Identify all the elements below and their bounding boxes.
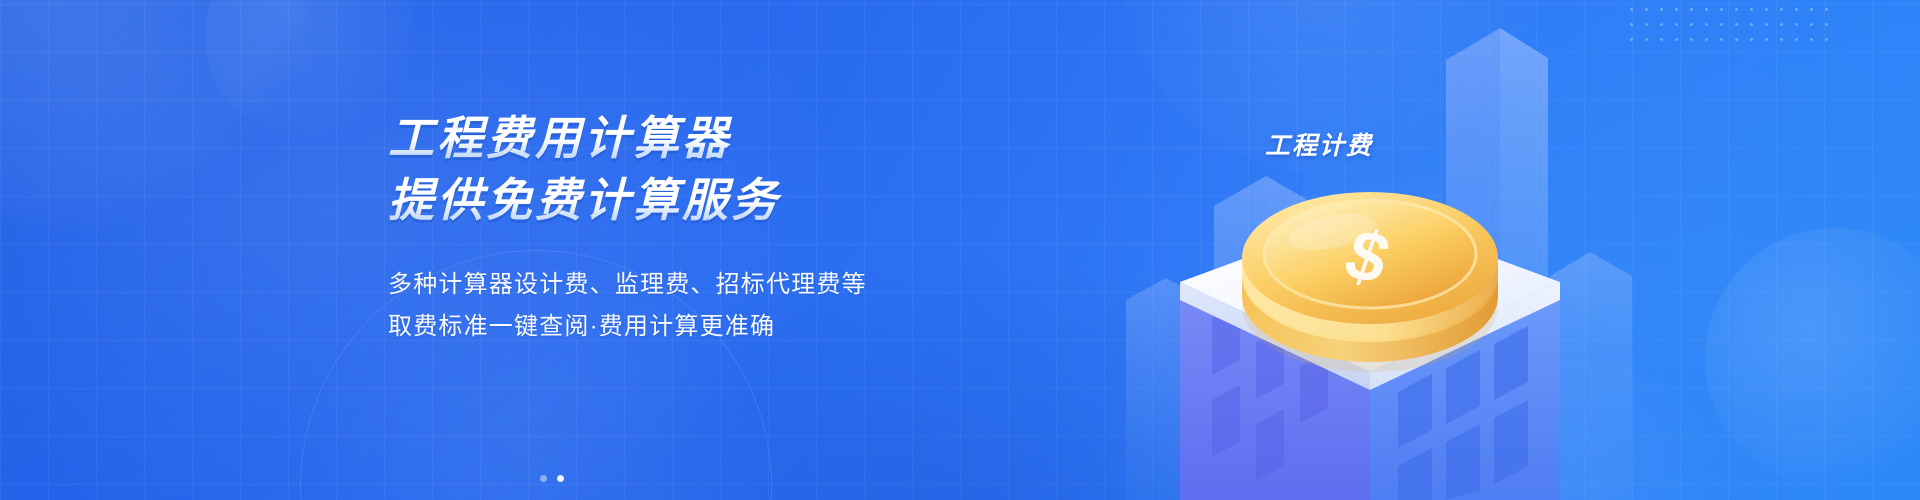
hero-banner: 工程费用计算器 提供免费计算服务 多种计算器设计费、监理费、招标代理费等 取费标… — [0, 0, 1920, 500]
carousel-dots[interactable] — [540, 475, 564, 482]
headline-line-1: 工程费用计算器 — [388, 110, 1008, 166]
dot-matrix-pattern — [1624, 2, 1834, 48]
illustration: $ 工程计费 — [1080, 0, 1640, 500]
banner-copy: 工程费用计算器 提供免费计算服务 多种计算器设计费、监理费、招标代理费等 取费标… — [388, 110, 1008, 348]
headline-line-2: 提供免费计算服务 — [388, 172, 1008, 228]
illustration-artwork: $ — [1080, 0, 1640, 500]
subtitle-line-2: 取费标准一键查阅·费用计算更准确 — [388, 306, 1008, 348]
gold-coin-icon: $ — [1242, 192, 1498, 372]
carousel-dot-2[interactable] — [557, 475, 564, 482]
carousel-dot-1[interactable] — [540, 475, 547, 482]
subtitle-line-1: 多种计算器设计费、监理费、招标代理费等 — [388, 264, 1008, 306]
illustration-badge: 工程计费 — [1265, 126, 1373, 162]
subtitle-block: 多种计算器设计费、监理费、招标代理费等 取费标准一键查阅·费用计算更准确 — [388, 264, 1008, 348]
